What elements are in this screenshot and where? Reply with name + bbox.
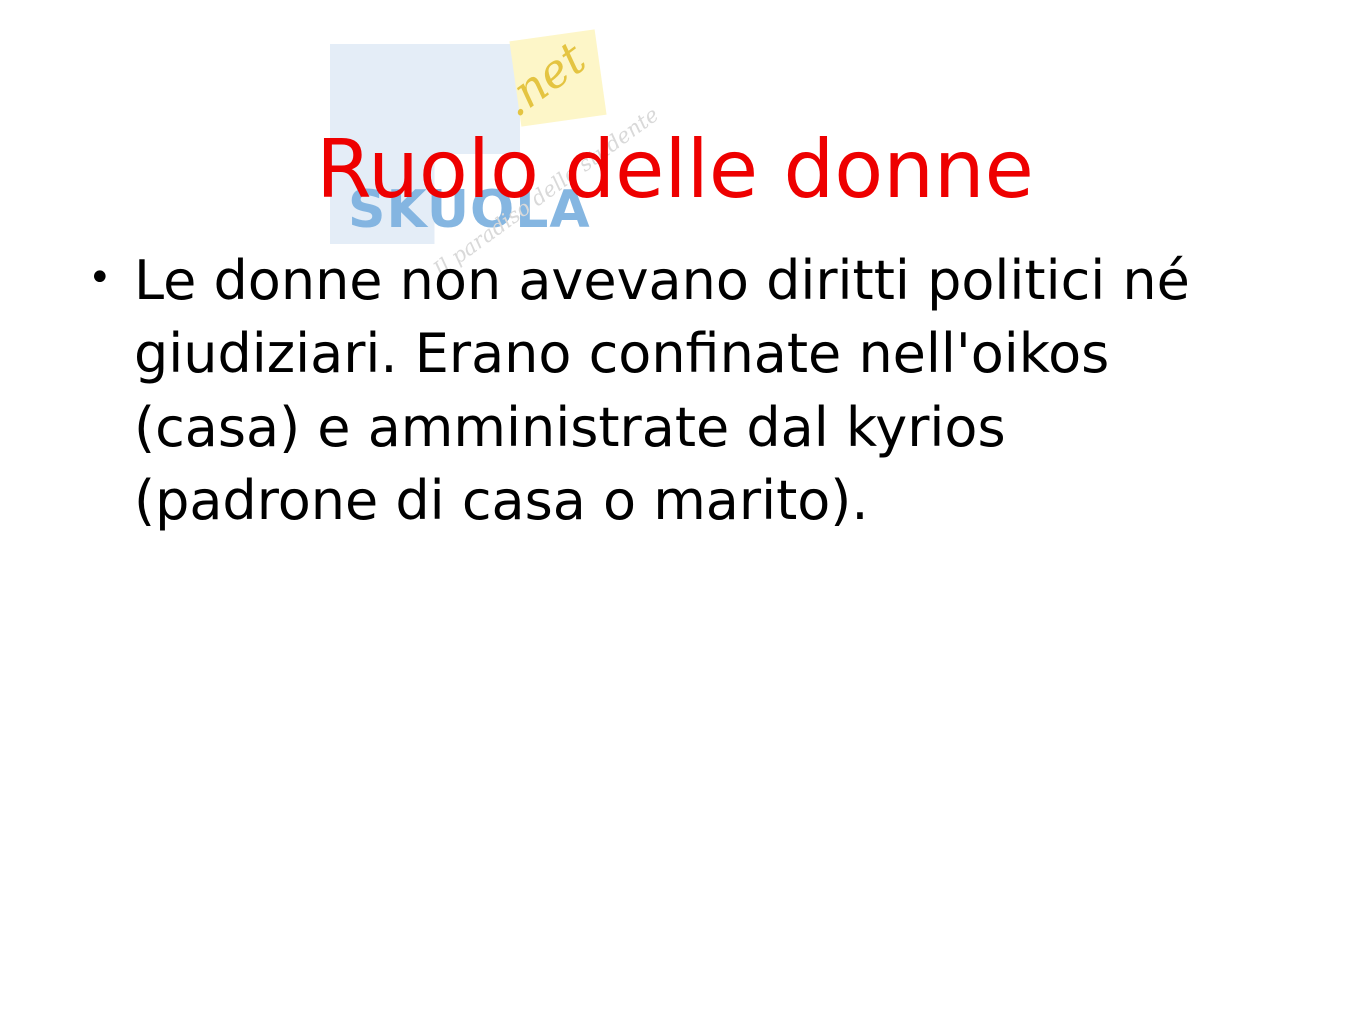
slide-body: • Le donne non avevano diritti politici … — [72, 244, 1272, 538]
bullet-marker-icon: • — [72, 244, 134, 313]
list-item: • Le donne non avevano diritti politici … — [72, 244, 1272, 538]
watermark-domain-text: .net — [491, 31, 596, 128]
watermark-sticky-note — [509, 29, 606, 126]
slide-title: Ruolo delle donne — [0, 126, 1350, 214]
bullet-text: Le donne non avevano diritti politici né… — [134, 244, 1229, 538]
slide: SKUOLA .net Il paradiso dello studente R… — [0, 0, 1350, 1013]
